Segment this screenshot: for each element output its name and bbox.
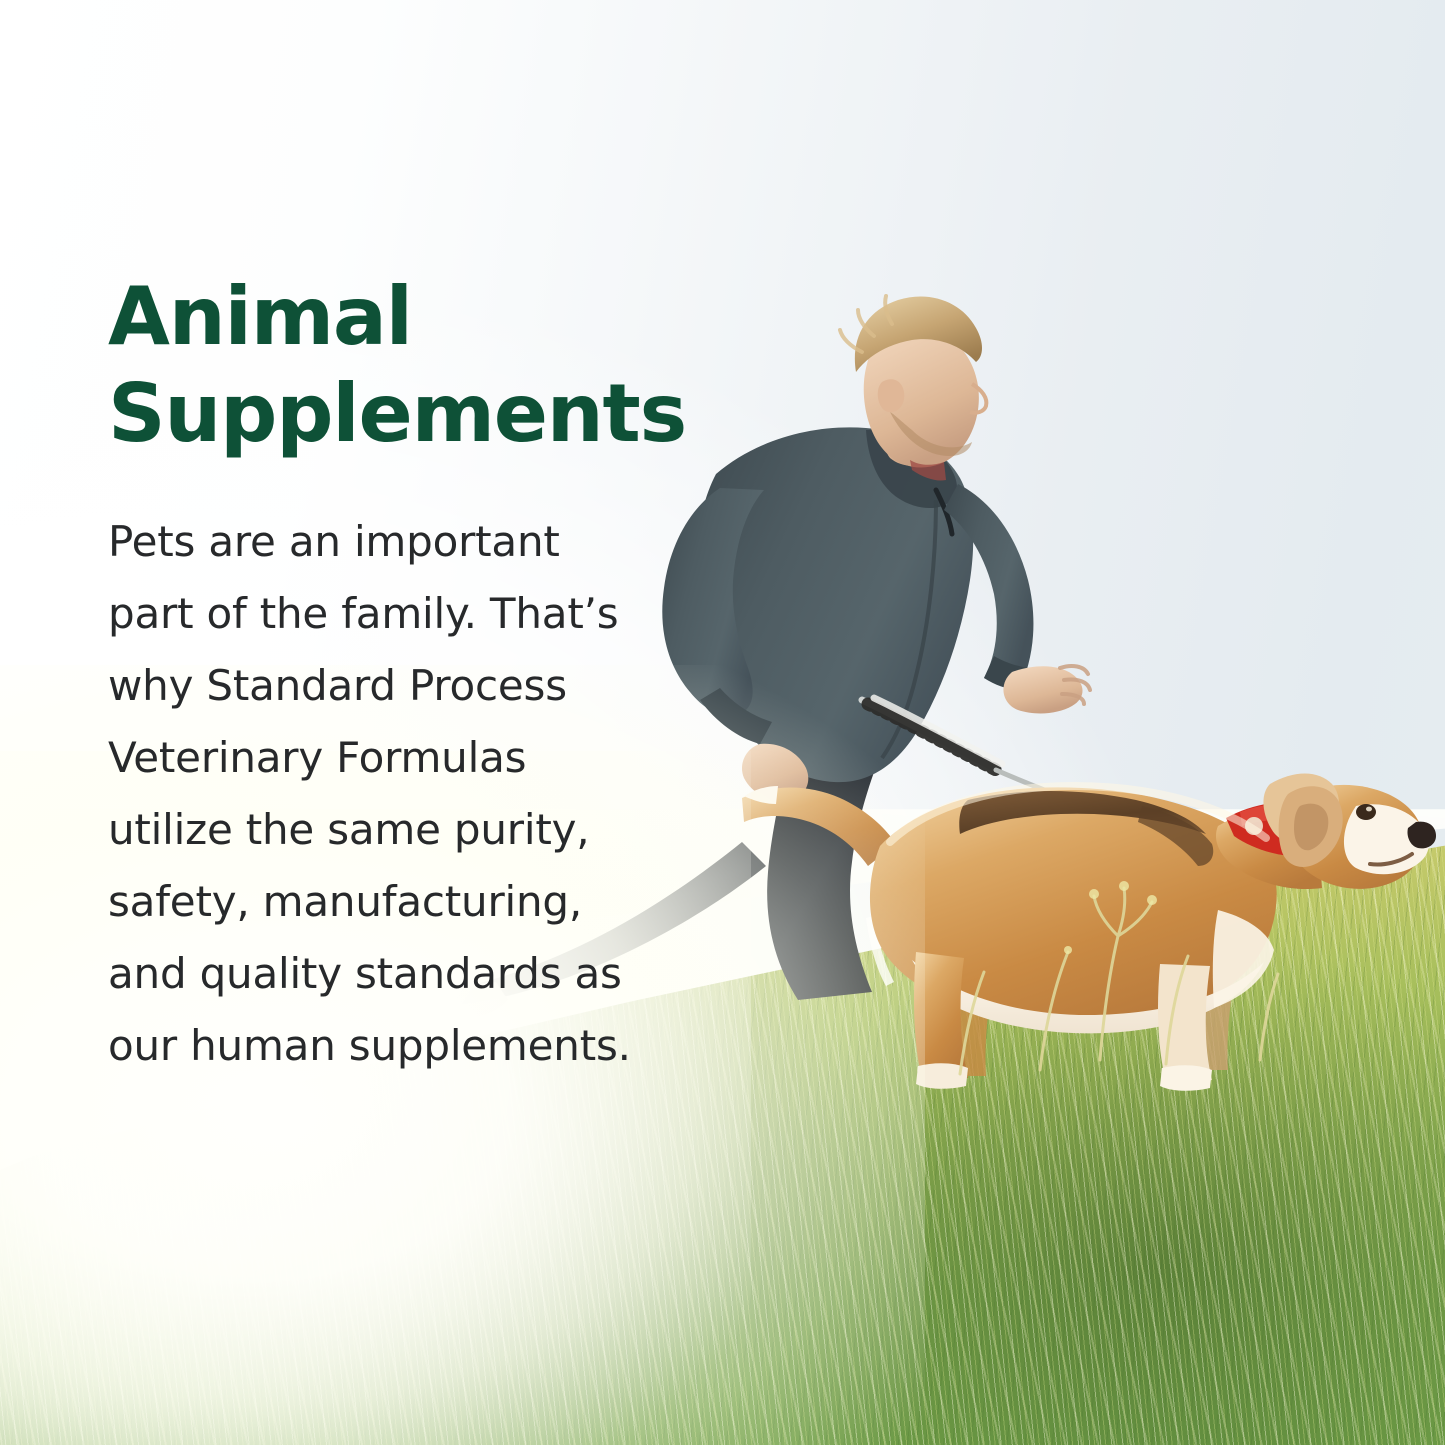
- body-paragraph: Pets are an important part of the family…: [108, 462, 688, 1082]
- page-title: Animal Supplements: [108, 268, 688, 462]
- promo-banner: Animal Supplements Pets are an important…: [0, 0, 1445, 1445]
- copy-block: Animal Supplements Pets are an important…: [108, 268, 688, 1082]
